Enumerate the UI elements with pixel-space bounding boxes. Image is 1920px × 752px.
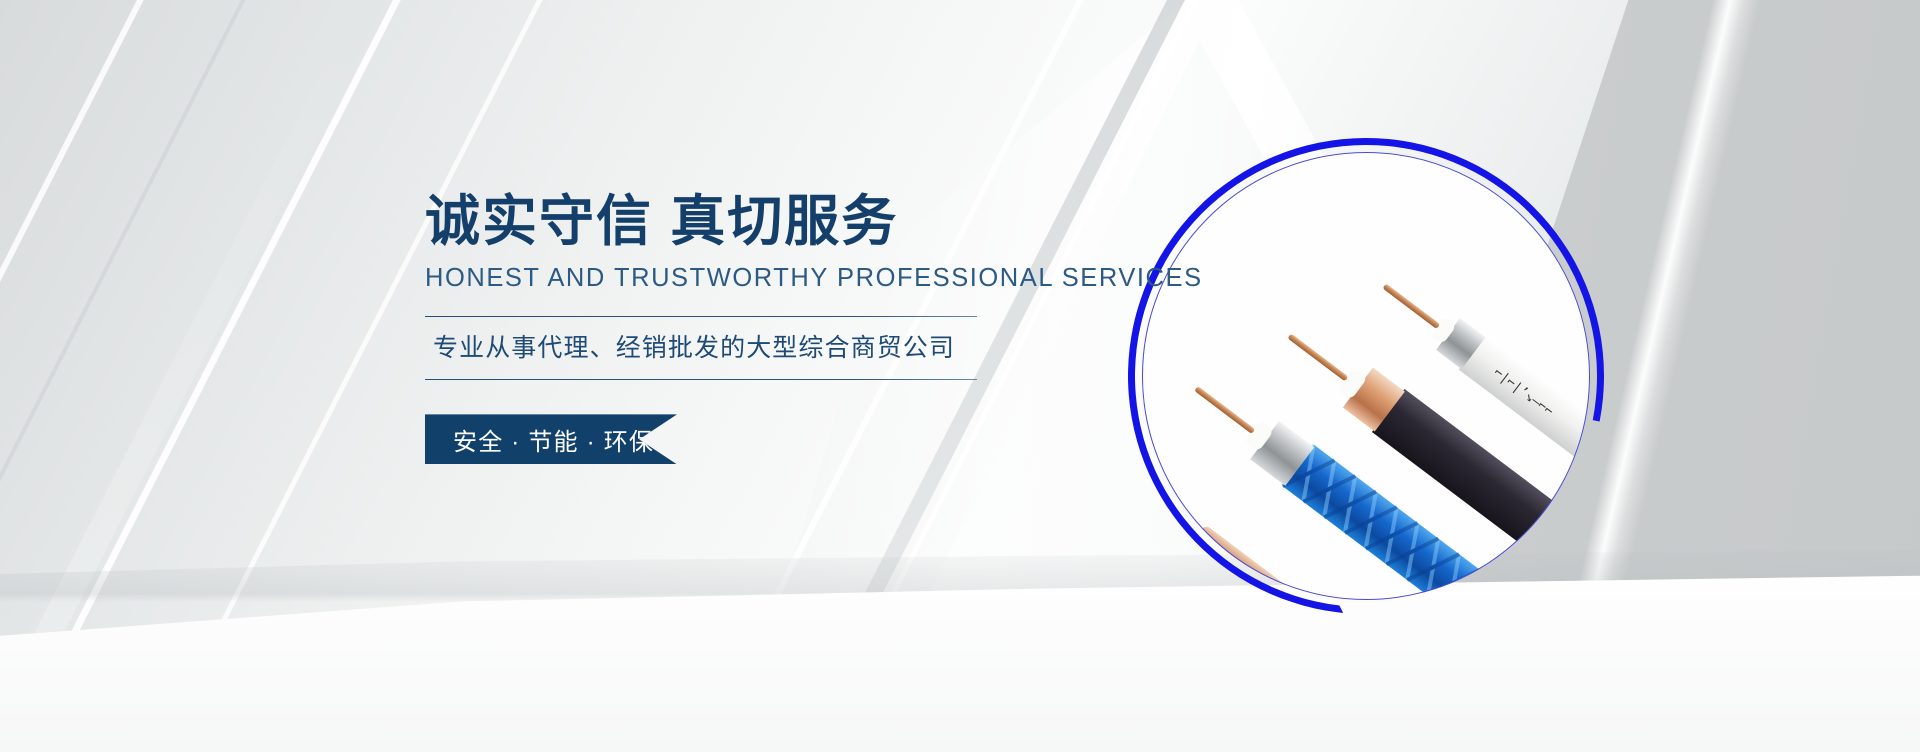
- hero-banner: ⌐|⌐|ʼ↘–⌐⌐: [0, 0, 1920, 752]
- page-subtitle: HONEST AND TRUSTWORTHY PROFESSIONAL SERV…: [425, 264, 1025, 293]
- feature-ribbon-label: 安全 · 节能 · 环保: [425, 422, 654, 457]
- hero-copy-block: 诚实守信 真切服务 HONEST AND TRUSTWORTHY PROFESS…: [425, 192, 1025, 464]
- feature-ribbon-badge[interactable]: 安全 · 节能 · 环保: [425, 414, 677, 464]
- coax-cable-circle-graphic: ⌐|⌐|ʼ↘–⌐⌐: [1128, 138, 1604, 614]
- page-title: 诚实守信 真切服务: [425, 192, 1025, 251]
- page-description: 专业从事代理、经销批发的大型综合商贸公司: [425, 317, 1025, 379]
- divider-bottom: [425, 379, 977, 380]
